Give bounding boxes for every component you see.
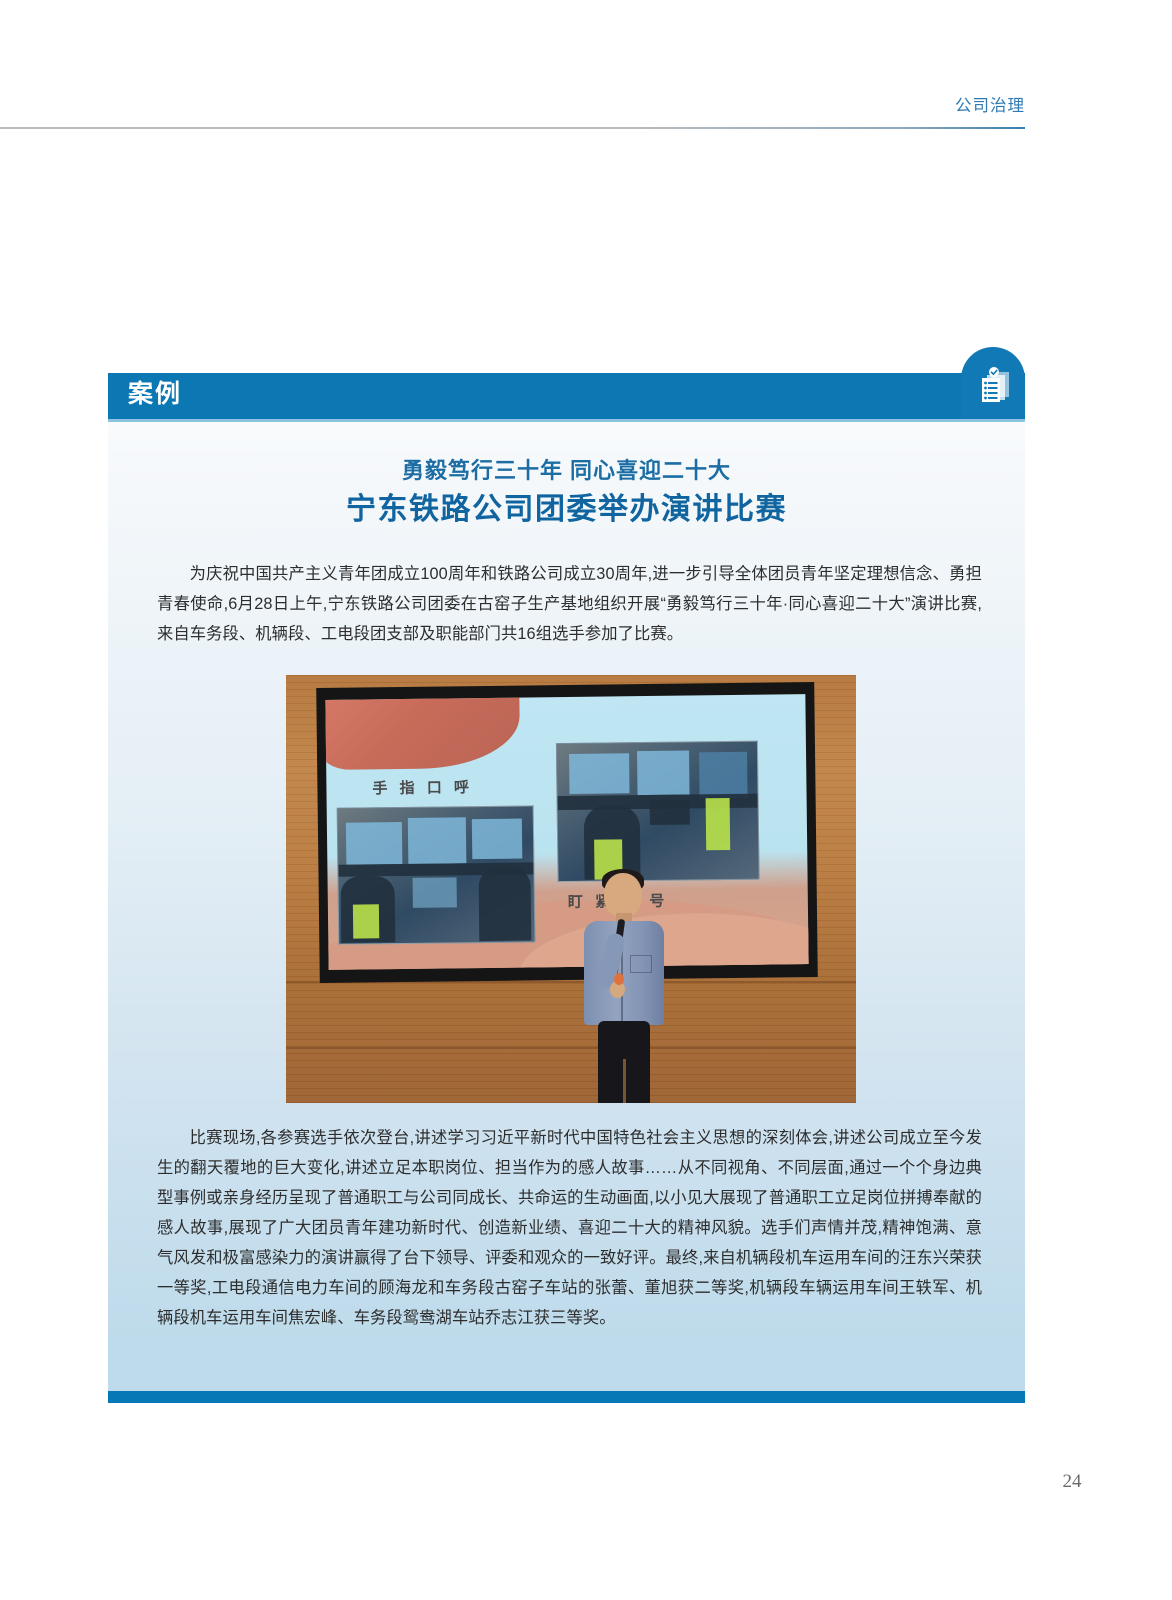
- case-banner: [108, 373, 1025, 419]
- event-photo: 手 指 口 呼 盯 紧 信 号: [286, 675, 856, 1103]
- slide-flag-graphic: [325, 694, 520, 770]
- slide-cab-photo-left: [337, 805, 536, 944]
- document-checklist-icon: [977, 367, 1011, 405]
- page-number: 24: [1052, 1472, 1092, 1491]
- case-banner-label: 案例: [128, 382, 182, 407]
- header-divider-rule: [0, 127, 1025, 129]
- case-paragraph-2: 比赛现场,各参赛选手依次登台,讲述学习习近平新时代中国特色社会主义思想的深刻体会…: [157, 1123, 982, 1333]
- case-paragraph-1: 为庆祝中国共产主义青年团成立100周年和铁路公司成立30周年,进一步引导全体团员…: [157, 559, 982, 649]
- photo-speaker-figure: [576, 863, 670, 1103]
- case-title: 宁东铁路公司团委举办演讲比赛: [108, 491, 1025, 529]
- photo-wall-seam: [286, 1047, 856, 1049]
- projection-screen-surface: 手 指 口 呼 盯 紧 信 号: [325, 694, 808, 970]
- page-running-header: 公司治理: [0, 0, 1172, 130]
- slide-caption-left: 手 指 口 呼: [372, 780, 473, 796]
- case-study-card: 案例 勇毅笃行三十年 同心喜迎二十大 宁东铁路公司团委举办演讲比赛 为庆祝中国共…: [108, 373, 1025, 1403]
- projection-screen-frame: 手 指 口 呼 盯 紧 信 号: [316, 682, 818, 983]
- banner-underline: [108, 419, 1025, 422]
- case-card-footer-bar: [108, 1391, 1025, 1403]
- section-label: 公司治理: [955, 98, 1025, 115]
- case-subtitle: 勇毅笃行三十年 同心喜迎二十大: [108, 458, 1025, 484]
- slide-cab-photo-right: [556, 741, 760, 882]
